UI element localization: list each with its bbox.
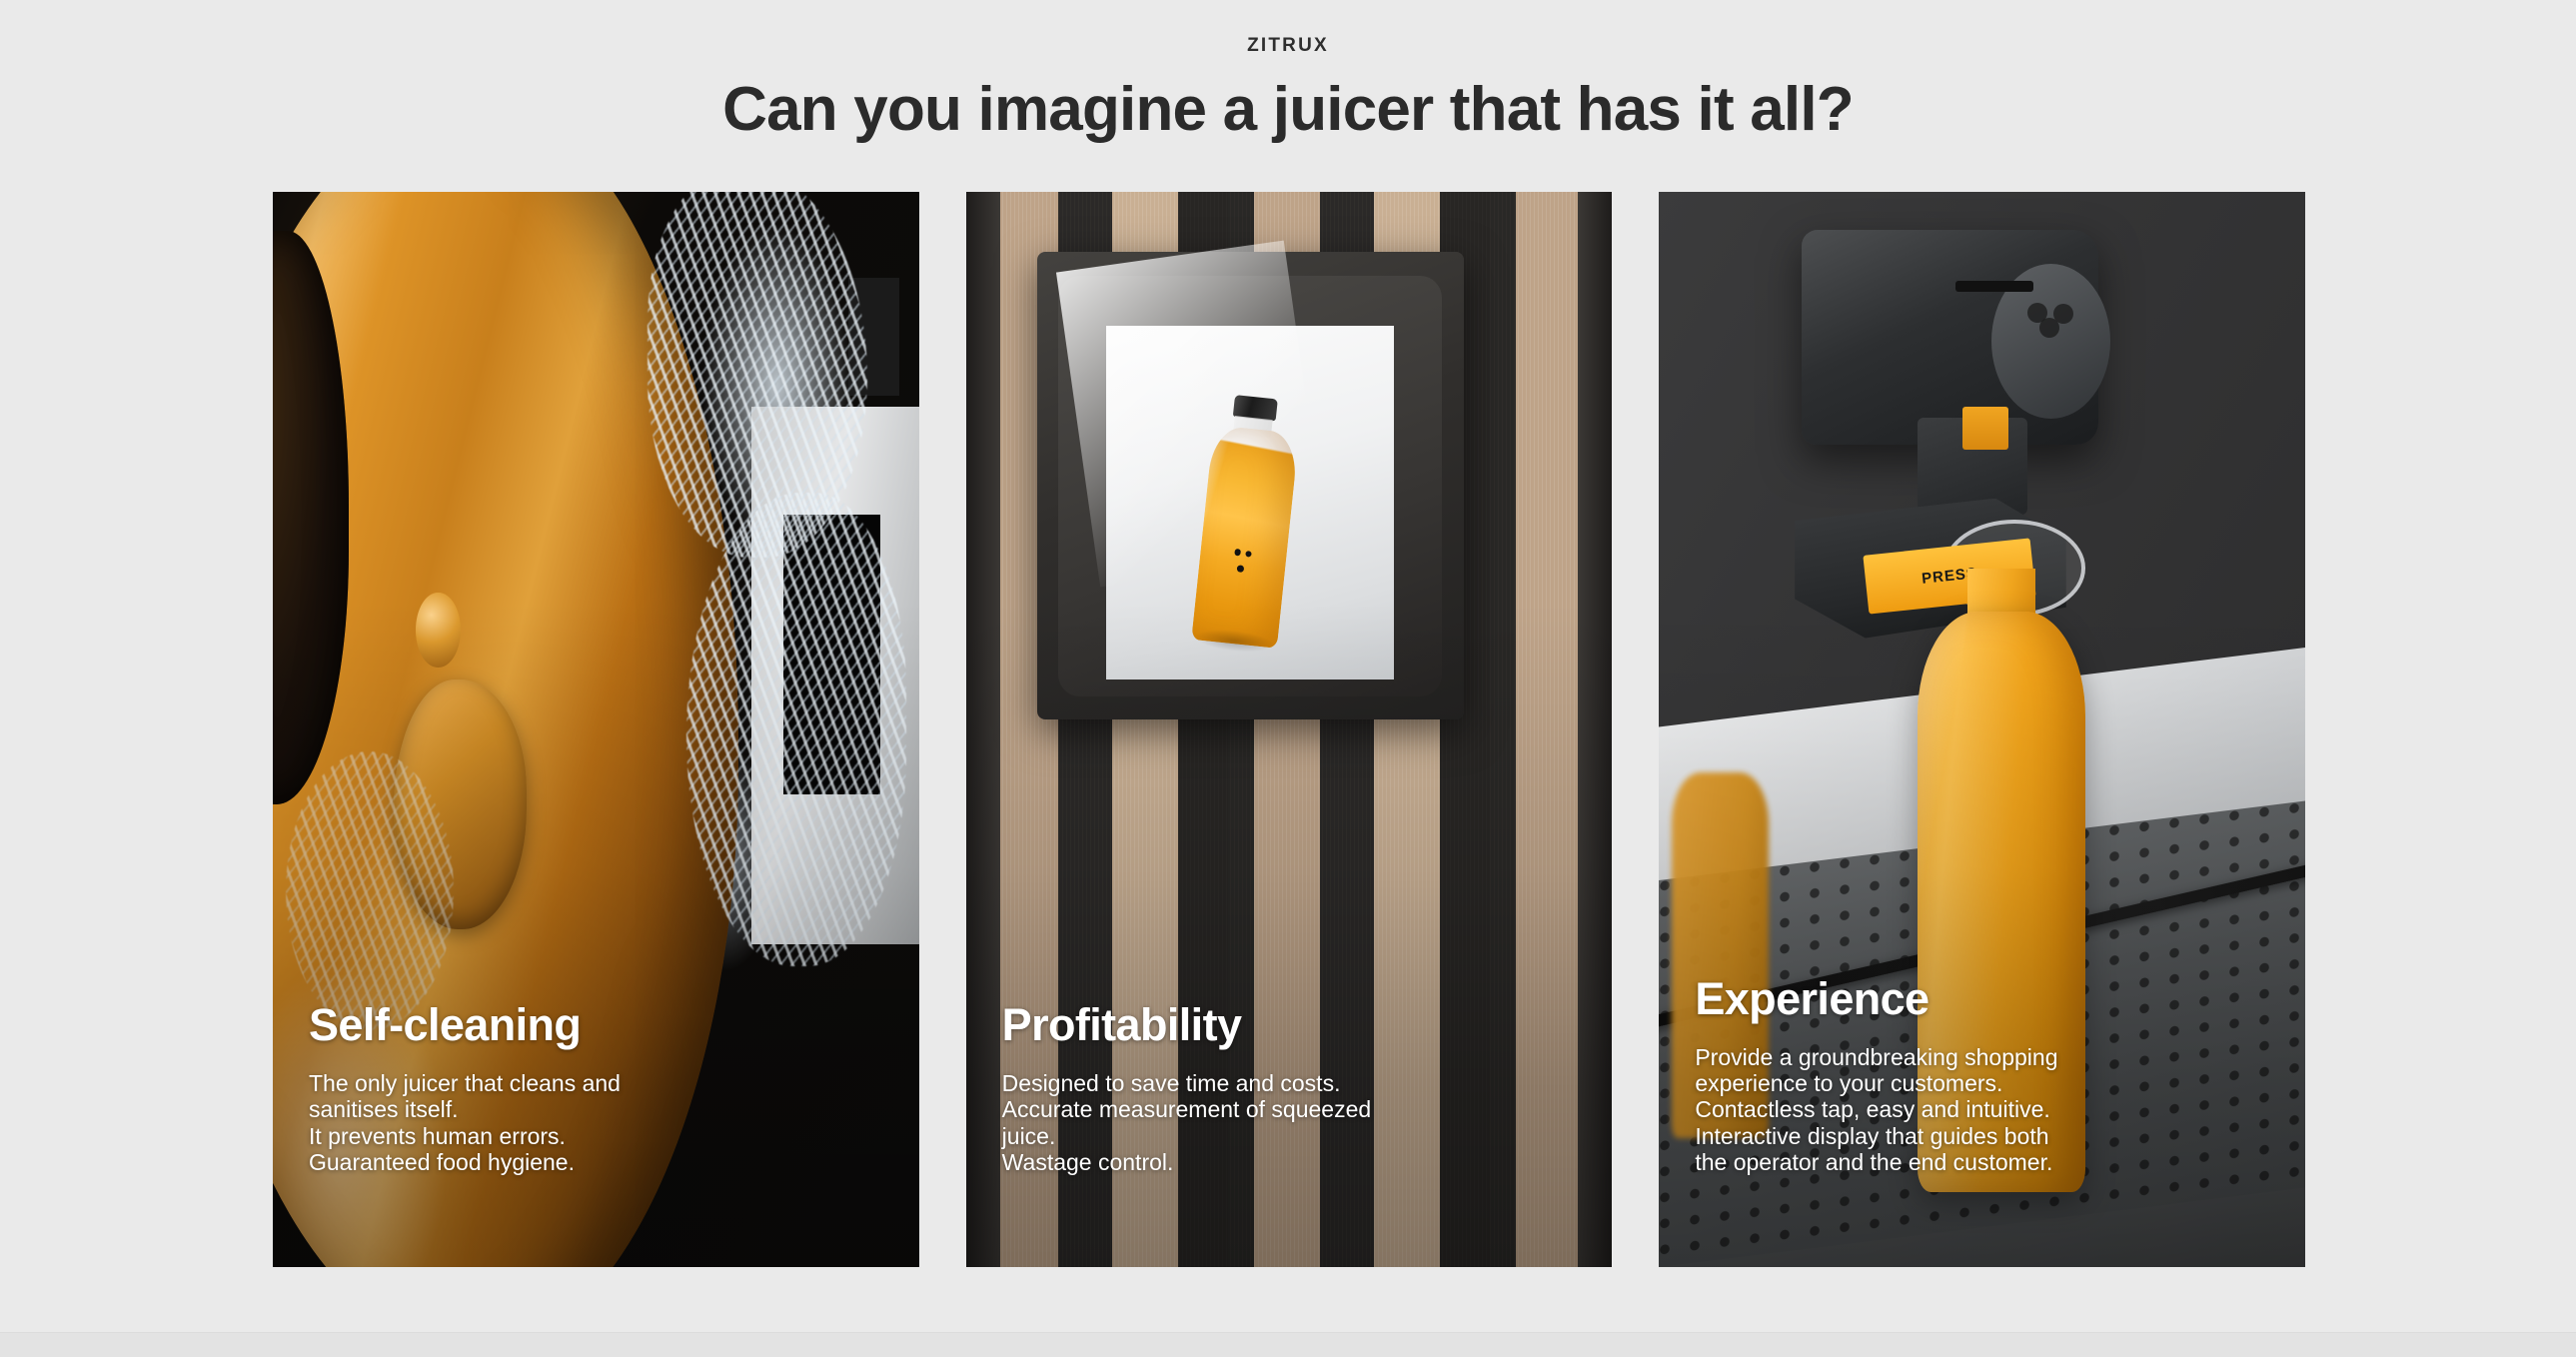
card-title: Profitability xyxy=(1002,1001,1585,1048)
squeezer-pin xyxy=(416,593,460,668)
card-body-line: juice. xyxy=(1002,1123,1585,1149)
card-body-line: sanitises itself. xyxy=(309,1096,891,1122)
zitrux-dots-logo-icon xyxy=(1230,549,1258,590)
card-body-line: Accurate measurement of squeezed xyxy=(1002,1096,1585,1122)
page-title: Can you imagine a juicer that has it all… xyxy=(0,77,2576,144)
card-body-line: the operator and the end customer. xyxy=(1695,1149,2277,1175)
card-copy: Experience Provide a groundbreaking shop… xyxy=(1695,975,2277,1175)
squeezer-cavity xyxy=(273,231,349,804)
card-body-line: It prevents human errors. xyxy=(309,1123,891,1149)
card-body-line: experience to your customers. xyxy=(1695,1070,2277,1096)
card-copy: Profitability Designed to save time and … xyxy=(1002,1001,1585,1175)
machine-edge-left xyxy=(966,192,1000,1267)
card-body-line: Contactless tap, easy and intuitive. xyxy=(1695,1096,2277,1122)
page-footer-strip xyxy=(0,1333,2576,1357)
display-bezel xyxy=(1037,252,1464,719)
dispenser-head xyxy=(1802,230,2098,445)
bottle-body xyxy=(1191,425,1299,648)
card-body-line: Interactive display that guides both xyxy=(1695,1123,2277,1149)
card-body: Provide a groundbreaking shopping experi… xyxy=(1695,1044,2277,1175)
feature-card-experience[interactable]: PRESS Experience Provide a groundbreakin… xyxy=(1659,192,2305,1267)
water-splash-lower xyxy=(686,493,906,965)
water-splash-left xyxy=(286,751,454,1031)
page-root: ZITRUX Can you imagine a juicer that has… xyxy=(0,0,2576,1357)
card-copy: Self-cleaning The only juicer that clean… xyxy=(309,1001,891,1175)
dispenser-nozzle-tip xyxy=(1962,407,2007,450)
feature-card-self-cleaning[interactable]: Self-cleaning The only juicer that clean… xyxy=(273,192,919,1267)
page-header: ZITRUX Can you imagine a juicer that has… xyxy=(0,0,2576,144)
feature-card-profitability[interactable]: Profitability Designed to save time and … xyxy=(966,192,1613,1267)
display-screen xyxy=(1106,326,1394,679)
card-body-line: Wastage control. xyxy=(1002,1149,1585,1175)
card-body: Designed to save time and costs. Accurat… xyxy=(1002,1070,1585,1175)
card-body-line: The only juicer that cleans and xyxy=(309,1070,891,1096)
card-body-line: Provide a groundbreaking shopping xyxy=(1695,1044,2277,1070)
card-title: Experience xyxy=(1695,975,2277,1022)
dispenser-slot xyxy=(1955,281,2032,292)
feature-card-list: Self-cleaning The only juicer that clean… xyxy=(273,192,2305,1267)
card-body-line: Designed to save time and costs. xyxy=(1002,1070,1585,1096)
display-bezel-inner xyxy=(1058,276,1442,696)
brand-eyebrow: ZITRUX xyxy=(0,36,2576,55)
card-body-line: Guaranteed food hygiene. xyxy=(309,1149,891,1175)
card-body: The only juicer that cleans and sanitise… xyxy=(309,1070,891,1175)
card-title: Self-cleaning xyxy=(309,1001,891,1048)
zitrux-dots-logo-icon xyxy=(2027,303,2075,329)
